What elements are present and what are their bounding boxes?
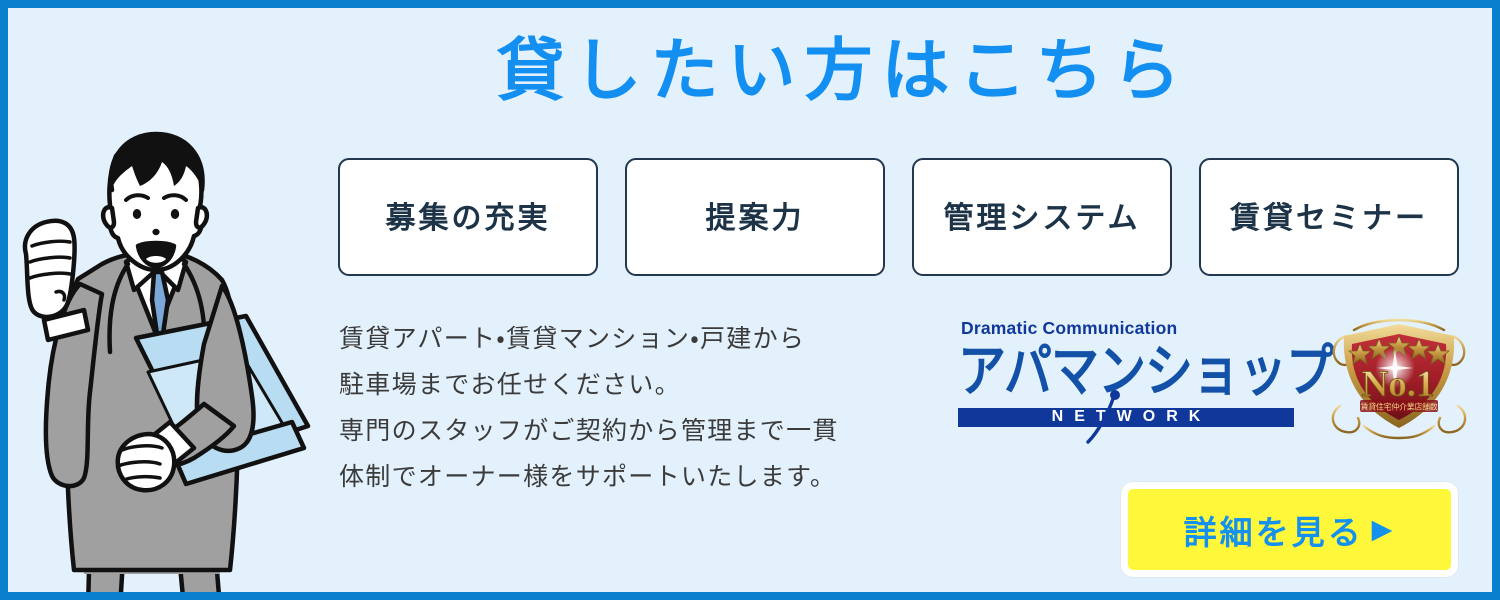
apaman-shop-logo: Dramatic Communication アパマンショップ NETWORK — [958, 318, 1294, 427]
feature-button-rental-seminar[interactable]: 賃貸セミナー — [1199, 158, 1459, 276]
no1-badge-caption: 賃貸住宅仲介業店舗数 — [1361, 401, 1438, 411]
page-title: 貸したい方はこちら — [338, 32, 1348, 110]
no1-badge-rank-text: No.1 — [1362, 364, 1435, 405]
description-text: 賃貸アパート・賃貸マンション・戸建から 駐車場までお任せください。 専門のスタッ… — [339, 316, 939, 500]
description-line: 駐車場までお任せください。 — [339, 362, 939, 408]
play-arrow-icon: ▶ — [1372, 516, 1396, 543]
no1-rank-badge: No.1 賃貸住宅仲介業店舗数 — [1324, 314, 1474, 440]
view-details-button[interactable]: 詳細を見る ▶ — [1121, 482, 1458, 577]
rental-owner-promo-banner: 貸したい方はこちら 募集の充実 提案力 管理システム 賃貸セミナー 賃貸アパート… — [0, 0, 1500, 600]
apaman-logo-network-bar: NETWORK — [958, 408, 1294, 427]
apaman-logo-wordmark: アパマンショップ — [958, 341, 1294, 404]
view-details-button-label: 詳細を見る ▶ — [1184, 506, 1396, 554]
feature-button-label: 賃貸セミナー — [1228, 193, 1430, 241]
feature-button-management-system[interactable]: 管理システム — [912, 158, 1172, 276]
description-line: 体制でオーナー様をサポートいたします。 — [339, 454, 939, 500]
feature-button-label: 募集の充実 — [384, 193, 553, 241]
feature-button-proposal[interactable]: 提案力 — [625, 158, 885, 276]
feature-button-label: 管理システム — [941, 193, 1142, 241]
feature-button-recruitment[interactable]: 募集の充実 — [338, 158, 598, 276]
apaman-logo-network-text: NETWORK — [1041, 408, 1212, 426]
feature-button-group: 募集の充実 提案力 管理システム 賃貸セミナー — [338, 158, 1459, 276]
description-line: 専門のスタッフがご契約から管理まで一貫 — [339, 408, 939, 454]
businessman-with-folder-illustration — [8, 104, 328, 600]
description-line: 賃貸アパート・賃貸マンション・戸建から — [339, 316, 939, 362]
feature-button-label: 提案力 — [704, 193, 807, 241]
apaman-logo-tagline: Dramatic Communication — [961, 318, 1294, 339]
cta-text: 詳細を見る — [1184, 506, 1364, 554]
